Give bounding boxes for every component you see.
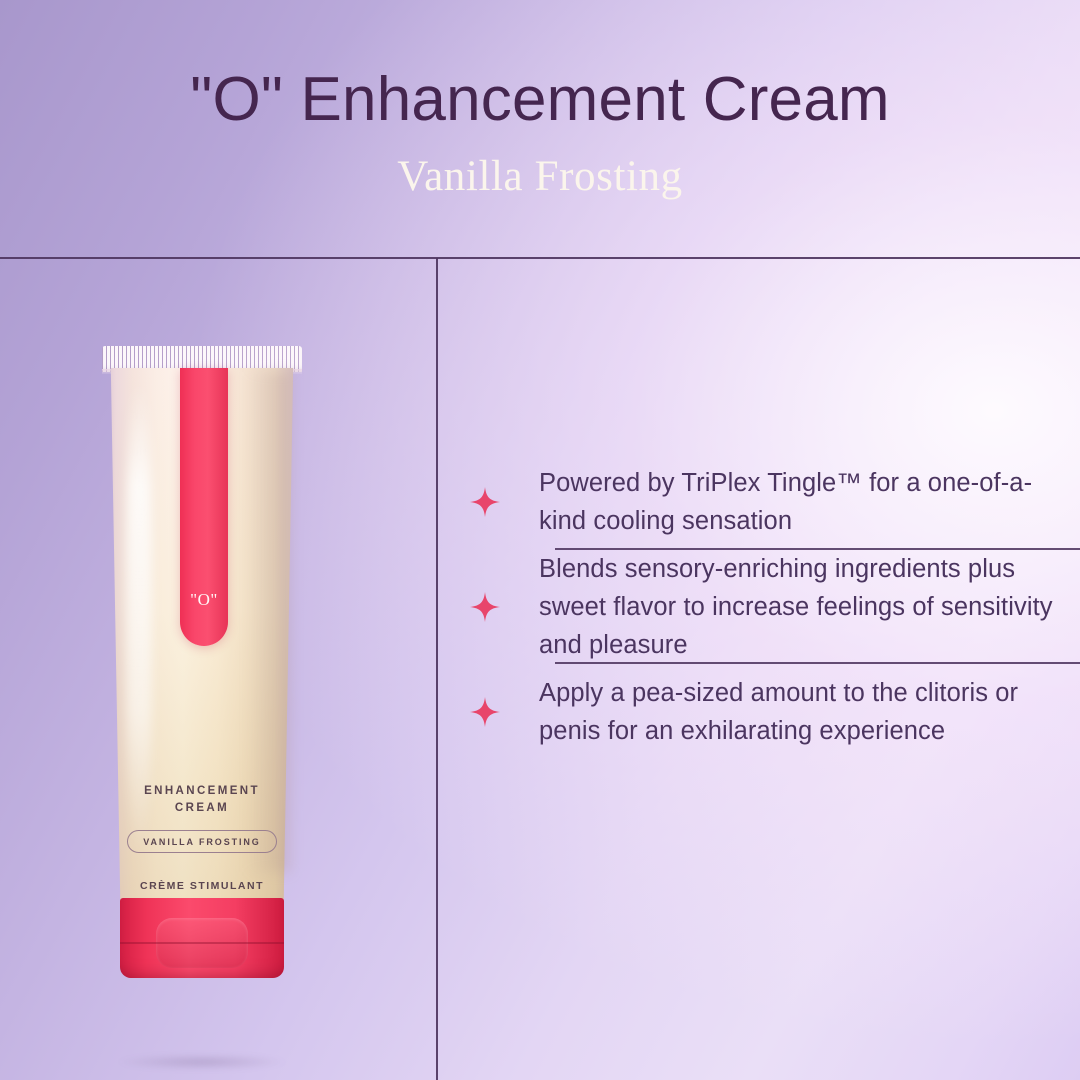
product-image-panel: "O" ENHANCEMENT CREAM VANILLA FROSTING C… xyxy=(0,258,436,1080)
cap-seam xyxy=(120,942,284,944)
tube-descriptor: CRÈME STIMULANT xyxy=(106,880,298,892)
product-logo: "O" xyxy=(180,590,228,610)
feature-item: Powered by TriPlex Tingle™ for a one-of-… xyxy=(437,454,1080,550)
flavor-badge: VANILLA FROSTING xyxy=(127,830,276,853)
product-tube: "O" ENHANCEMENT CREAM VANILLA FROSTING C… xyxy=(96,338,308,978)
sparkle-star-icon xyxy=(470,592,500,622)
tube-label-line-1: ENHANCEMENT xyxy=(106,783,298,800)
feature-text: Blends sensory-enriching ingredients plu… xyxy=(539,550,1080,664)
tube-label-line-2: CREAM xyxy=(106,800,298,817)
feature-text: Apply a pea-sized amount to the clitoris… xyxy=(539,674,1080,750)
feature-item: Apply a pea-sized amount to the clitoris… xyxy=(437,664,1080,760)
tube-label: ENHANCEMENT CREAM VANILLA FROSTING CRÈME… xyxy=(106,783,298,915)
tube-cap xyxy=(120,898,284,978)
header: "O" Enhancement Cream Vanilla Frosting xyxy=(0,0,1080,258)
feature-item: Blends sensory-enriching ingredients plu… xyxy=(437,550,1080,664)
product-infographic: "O" Enhancement Cream Vanilla Frosting "… xyxy=(0,0,1080,1080)
page-title: "O" Enhancement Cream xyxy=(0,64,1080,135)
sparkle-star-icon xyxy=(470,697,500,727)
page-subtitle: Vanilla Frosting xyxy=(0,152,1080,201)
feature-text: Powered by TriPlex Tingle™ for a one-of-… xyxy=(539,464,1080,540)
tube-accent-stripe: "O" xyxy=(180,368,228,646)
features-list: Powered by TriPlex Tingle™ for a one-of-… xyxy=(437,454,1080,760)
sparkle-star-icon xyxy=(470,487,500,517)
features-panel: Powered by TriPlex Tingle™ for a one-of-… xyxy=(437,258,1080,1080)
tube-drop-shadow xyxy=(116,1054,288,1070)
